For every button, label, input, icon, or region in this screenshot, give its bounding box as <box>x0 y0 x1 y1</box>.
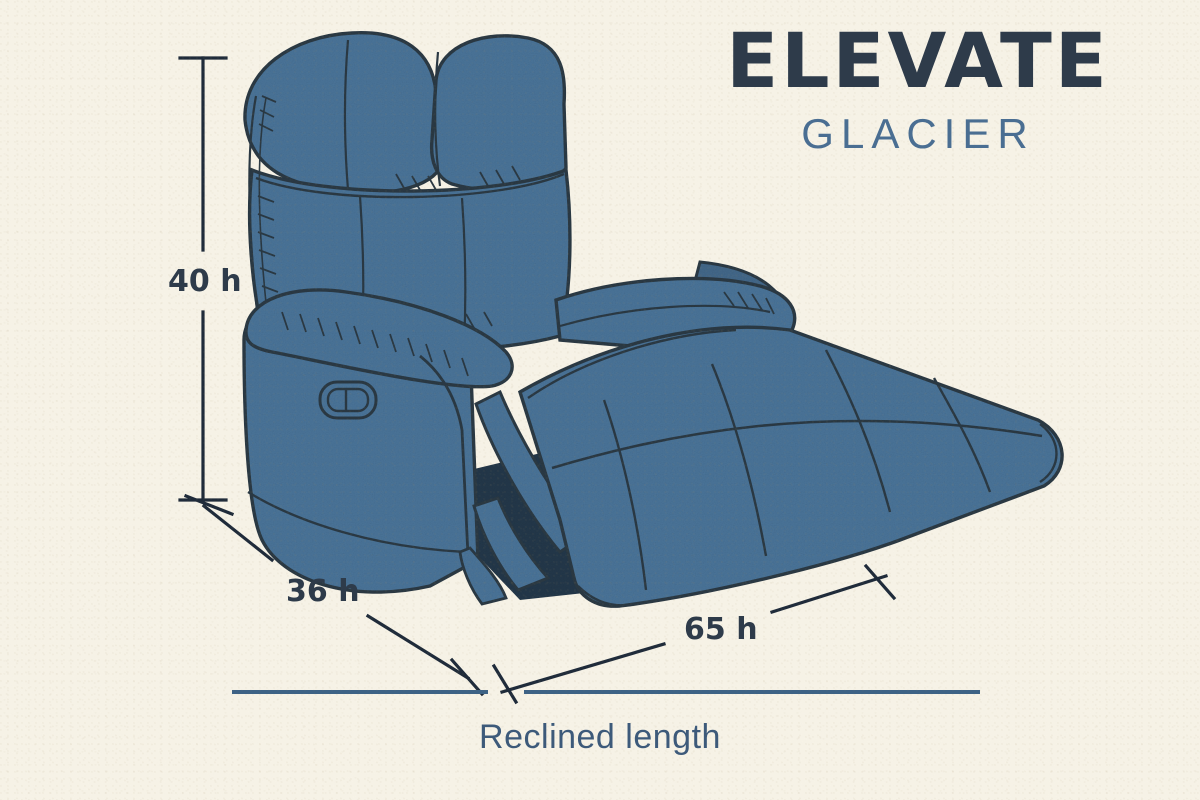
brand-subtitle: GLACIER <box>708 110 1128 158</box>
dimension-label-depth: 36 h <box>286 574 360 609</box>
headrest-pillow-right <box>432 36 566 190</box>
dimension-label-reclined-length: 65 h <box>684 612 758 647</box>
baseline-caption: Reclined length <box>0 718 1200 757</box>
spec-sheet-canvas: ELEVATE GLACIER 40 h 36 h 65 h Reclined … <box>0 0 1200 800</box>
brand-block: ELEVATE GLACIER <box>708 24 1128 158</box>
brand-title: ELEVATE <box>708 24 1128 98</box>
dimension-label-height: 40 h <box>168 264 242 299</box>
